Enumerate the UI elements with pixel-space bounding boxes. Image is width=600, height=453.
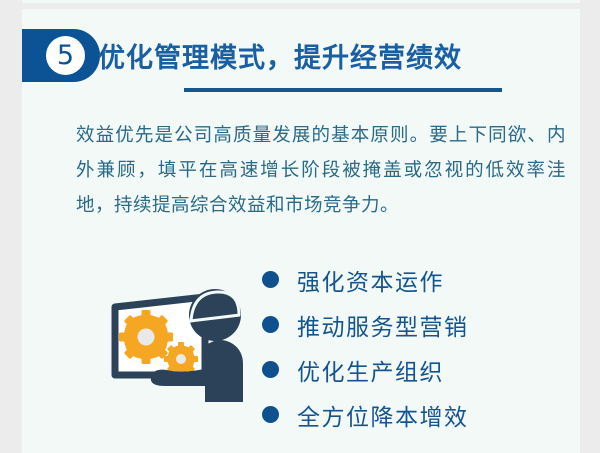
list-item[interactable]: 推动服务型营销 [262, 302, 562, 347]
worker-with-gears-icon [97, 271, 272, 411]
content-card: 5 优化管理模式，提升经营绩效 效益优先是公司高质量发展的基本原则。要上下同欲、… [22, 9, 580, 453]
list-item-label: 推动服务型营销 [297, 308, 469, 342]
bullet-list: 强化资本运作 推动服务型营销 优化生产组织 全方位降本增效 [262, 257, 562, 437]
list-item[interactable]: 优化生产组织 [262, 347, 562, 392]
list-item[interactable]: 强化资本运作 [262, 257, 562, 302]
body-paragraph: 效益优先是公司高质量发展的基本原则。要上下同欲、内外兼顾，填平在高速增长阶段被掩… [76, 117, 566, 222]
worker-torso-shape [205, 340, 243, 402]
previous-card-sliver [22, 0, 580, 3]
bullet-dot-icon [262, 361, 279, 378]
section-header: 5 优化管理模式，提升经营绩效 [22, 29, 580, 85]
bullet-dot-icon [262, 406, 279, 423]
worker-with-gears-svg [97, 271, 272, 411]
title-underline [184, 88, 502, 92]
list-item-label: 全方位降本增效 [297, 398, 469, 432]
page-title: 优化管理模式，提升经营绩效 [98, 36, 462, 75]
section-number-badge: 5 [22, 29, 100, 82]
section-number-label: 5 [46, 36, 85, 75]
list-item-label: 优化生产组织 [297, 353, 444, 387]
list-item[interactable]: 全方位降本增效 [262, 392, 562, 437]
large-gear-icon [119, 310, 173, 364]
bullet-dot-icon [262, 316, 279, 333]
bullet-dot-icon [262, 271, 279, 288]
list-item-label: 强化资本运作 [297, 263, 444, 297]
